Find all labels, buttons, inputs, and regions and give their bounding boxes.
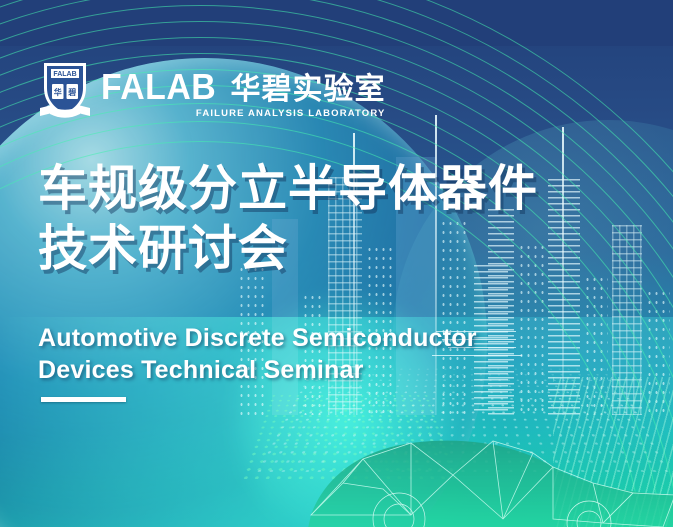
- page-subtitle: Automotive Discrete Semiconductor Device…: [38, 322, 477, 386]
- title-line-2: 技术研讨会: [38, 220, 538, 280]
- subtitle-line-2: Devices Technical Seminar: [38, 354, 477, 386]
- logo-wordmark-en: FALAB: [101, 69, 216, 105]
- logo-tagline: FAILURE ANALYSIS LABORATORY: [101, 109, 386, 119]
- divider: [41, 397, 126, 402]
- logo-wordmark-cn: 华碧实验室: [231, 75, 386, 105]
- seminar-poster: FALAB 华 碧 FALAB 华碧实验室 FAILURE ANALYSIS L…: [0, 0, 673, 527]
- low-poly-car-graphic: [303, 423, 673, 527]
- title-line-1: 车规级分立半导体器件: [38, 160, 538, 220]
- falab-logo[interactable]: FALAB 华 碧 FALAB 华碧实验室 FAILURE ANALYSIS L…: [38, 58, 386, 120]
- shield-book-crest-icon: FALAB 华 碧: [38, 58, 92, 120]
- svg-text:华: 华: [54, 87, 62, 97]
- page-title: 车规级分立半导体器件 技术研讨会: [38, 160, 538, 280]
- logo-wordmark: FALAB 华碧实验室 FAILURE ANALYSIS LABORATORY: [101, 69, 386, 121]
- svg-text:碧: 碧: [67, 87, 76, 97]
- crest-label: FALAB: [53, 71, 76, 78]
- subtitle-line-1: Automotive Discrete Semiconductor: [38, 322, 477, 354]
